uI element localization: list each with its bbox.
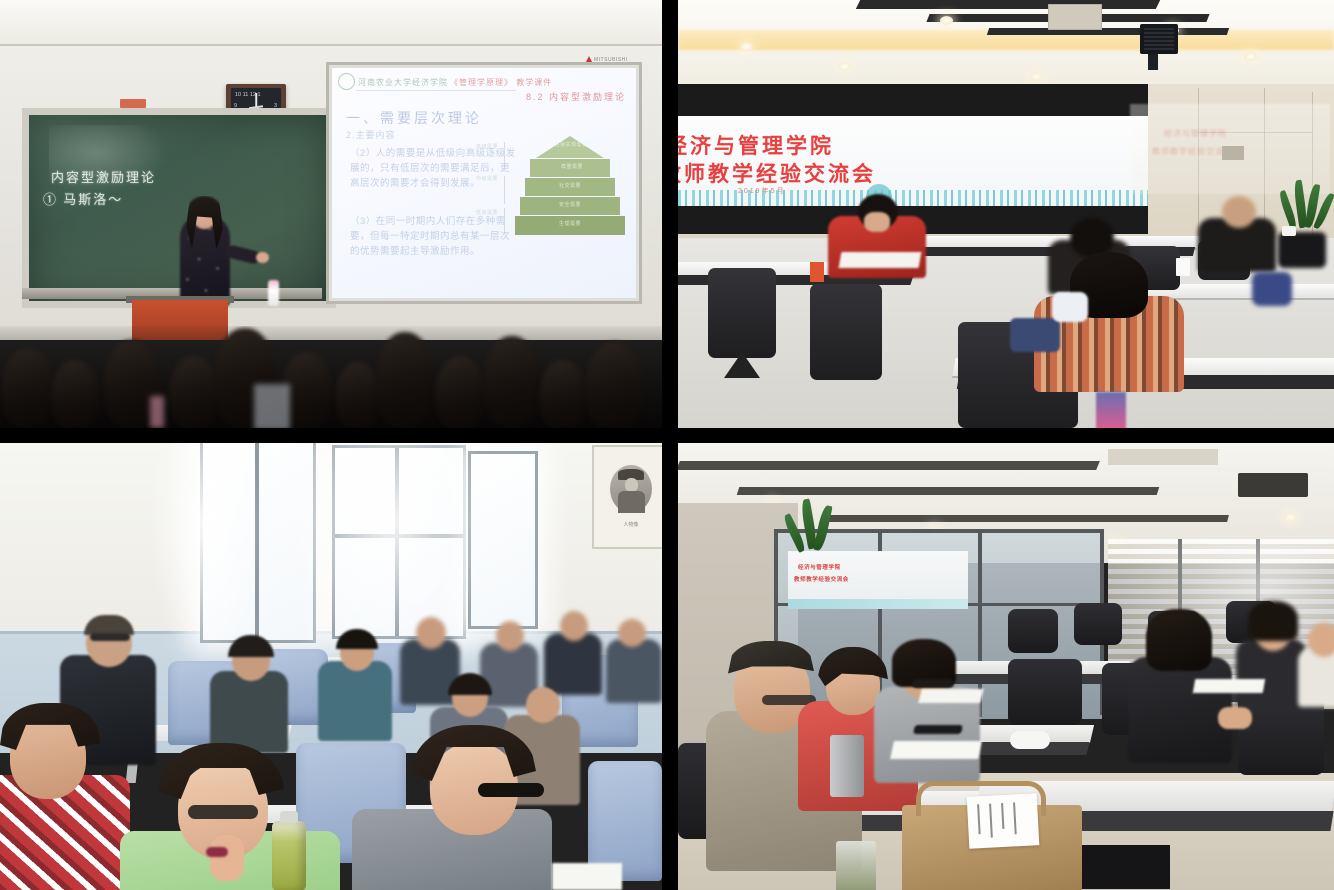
- chalk-eraser: [120, 99, 146, 108]
- tote-bag: [1096, 392, 1126, 428]
- pink-bottle: [150, 396, 164, 428]
- notebook: [839, 252, 922, 268]
- backpack: [1278, 232, 1326, 268]
- pyramid-label-2: 安全需要: [542, 202, 598, 208]
- attendee-hair: [84, 615, 134, 635]
- portrait-image: [610, 465, 652, 513]
- screen-surround-top: [678, 84, 1148, 120]
- attendee-body: [1128, 657, 1232, 763]
- photo-panel-bottom-right: 经济与管理学院 教师教学经验交流会: [678, 443, 1334, 890]
- paper-text-line: [1013, 802, 1017, 834]
- paper-text-line: [1001, 803, 1004, 829]
- downlight: [1284, 513, 1297, 522]
- slide-paragraph-2: （2）人的需要是从低级向高级逐级发展的，只有低层次的需要满足后，更高层次的需要才…: [350, 146, 518, 191]
- ceiling-beam: [737, 487, 1160, 495]
- screen-title-line-1: 经济与管理学院: [678, 130, 834, 160]
- student-head: [540, 360, 586, 428]
- ceiling-beam: [678, 461, 1100, 470]
- notebook: [890, 741, 982, 759]
- paper-cup: [1176, 258, 1190, 276]
- lecture-hall-scene: 10 11 12 1 9 3 8 7 6 5 4 内容型激励理论 ① 马斯洛～ …: [0, 0, 662, 428]
- downlight: [838, 62, 851, 71]
- chair-tag: [810, 262, 824, 282]
- student-head: [2, 348, 54, 428]
- pyramid-side-label-high: 高级需要: [476, 144, 502, 150]
- downlight: [740, 42, 753, 51]
- slide-divider: [356, 90, 516, 91]
- ceiling: [0, 0, 662, 46]
- attendee-head: [618, 619, 646, 647]
- portrait-face: [625, 478, 638, 492]
- classroom-windows-scene: 人物像: [0, 443, 662, 890]
- wall-outlet: [1222, 146, 1244, 160]
- chalkboard: 内容型激励理论 ① 马斯洛～: [22, 108, 336, 308]
- student-head: [336, 362, 380, 428]
- student-head: [376, 332, 434, 428]
- folded-jacket: [1010, 318, 1060, 352]
- slide-subheading: 2.主要内容: [346, 128, 396, 141]
- screen-date: 2019年5月: [738, 186, 785, 196]
- seminar-room-scene: 经济与管理学院 教师教学经验交流会: [678, 443, 1334, 890]
- student-head: [52, 360, 98, 428]
- projected-slide: 河南农业大学经济学院 《管理学原理》 教学课件 8.2 内容型激励理论 一、需要…: [332, 68, 636, 298]
- student-head: [170, 356, 218, 428]
- attendee-body: [544, 633, 602, 695]
- chair-base: [1074, 845, 1170, 889]
- screen-title-line-2: 教师教学经验交流会: [678, 158, 876, 188]
- eyeglasses: [90, 633, 130, 641]
- notebook: [1193, 679, 1265, 693]
- maslow-pyramid: 自我实现需要 尊重需要 社交需要 安全需要 生理需要 高级需要 中级需要 低级需…: [522, 136, 618, 240]
- downlight: [766, 501, 779, 510]
- bottle-cap: [280, 811, 298, 823]
- projector-brand-label: MITSUBISHI: [594, 57, 628, 63]
- tea-glass: [836, 841, 876, 890]
- distant-screen-line-2: 教师教学经验交流会: [794, 575, 849, 583]
- ceiling-vent: [1048, 4, 1102, 30]
- attendee-body: [606, 639, 662, 703]
- mesh-chair: [1008, 659, 1082, 725]
- mesh-chair: [1008, 609, 1058, 653]
- office-chair: [708, 268, 776, 358]
- portrait-caption: 人物像: [594, 521, 662, 528]
- white-sneaker: [1010, 731, 1050, 749]
- paper-text-line: [989, 804, 993, 838]
- chalkboard-line-2: ① 马斯洛～: [43, 189, 123, 208]
- student-shirt: [254, 384, 290, 428]
- wall-speaker: [1238, 473, 1308, 497]
- window-glare: [150, 443, 260, 663]
- bracelet: [206, 847, 228, 857]
- student-head: [484, 336, 540, 428]
- attendee-head: [416, 617, 446, 649]
- pyramid-label-1: 生理需要: [538, 221, 602, 227]
- attendee-body: [210, 671, 288, 753]
- notebook: [552, 863, 622, 890]
- pyramid-label-3: 社交需要: [546, 183, 594, 189]
- paper-sheet: [967, 793, 1040, 849]
- clock-numeral-10: 10 11 12 1: [235, 92, 261, 98]
- audience-silhouettes: [0, 326, 662, 428]
- attendee-hair: [1248, 601, 1298, 641]
- plastic-bag: [1052, 292, 1088, 322]
- conference-room-scene: 经济与管理学院 教师教学经验交流会 2019年5月 经济与管理学院 教师教学经验…: [678, 0, 1334, 428]
- attendee-hand: [1218, 707, 1252, 729]
- university-logo-icon: [338, 73, 355, 90]
- window-glare: [292, 443, 492, 653]
- slide-paragraph-3: （3）在同一时期内人们存在多种需要，但每一特定时期内总有某一层次的优势需要起主导…: [350, 214, 518, 259]
- attendee-body: [318, 661, 392, 741]
- slide-university: 河南农业大学经济学院: [358, 77, 448, 88]
- bag: [1252, 272, 1292, 306]
- attendee-head: [560, 611, 588, 641]
- pyramid-side-label-mid: 中级需要: [476, 176, 502, 182]
- student-head: [586, 342, 644, 428]
- projection-screen: 经济与管理学院 教师教学经验交流会 2019年5月: [678, 116, 1148, 206]
- smartphone: [913, 725, 963, 734]
- paper-text-line: [977, 804, 981, 834]
- pyramid-brace-high: [504, 142, 505, 168]
- slide-heading: 一、需要层次理论: [346, 108, 482, 128]
- plant-leaf: [813, 504, 832, 551]
- pyramid-brace-low: [504, 208, 505, 234]
- distant-screen-skyline: [788, 599, 968, 609]
- attendee-face: [864, 212, 890, 232]
- downlight: [940, 16, 953, 25]
- wall-portrait-frame: 人物像: [592, 445, 662, 549]
- instructor-hand: [256, 252, 269, 263]
- paper-cup: [1282, 226, 1296, 236]
- mesh-chair: [1074, 603, 1122, 645]
- mesh-chair: [1238, 695, 1324, 775]
- speaker-grille: [1144, 28, 1174, 50]
- reflection-line-2: 教师教学经验交流会: [1152, 146, 1233, 157]
- potted-plant: [788, 499, 844, 569]
- attendee-head: [496, 621, 524, 651]
- slide-course: 《管理学原理》 教学课件: [450, 77, 628, 88]
- pyramid-label-4: 尊重需要: [550, 164, 594, 170]
- office-chair: [810, 284, 882, 380]
- ceiling-panel: [1108, 449, 1218, 465]
- green-water-bottle: [272, 821, 306, 890]
- downlight: [1030, 72, 1043, 81]
- attendee-head: [526, 687, 560, 723]
- ceiling-beam: [856, 0, 1160, 9]
- photo-collage: 10 11 12 1 9 3 8 7 6 5 4 内容型激励理论 ① 马斯洛～ …: [0, 0, 1334, 890]
- water-bottle: [268, 280, 279, 306]
- notebook: [918, 689, 983, 703]
- attendee-head: [1308, 623, 1334, 657]
- attendee-hand: [210, 835, 244, 881]
- wall-speaker: [1140, 24, 1178, 54]
- ceiling-beam: [987, 28, 1229, 35]
- mitsubishi-logo-icon: [586, 56, 592, 62]
- thermos-cup: [830, 735, 864, 797]
- eyeglasses: [478, 783, 544, 797]
- attendee-hair: [1146, 609, 1212, 671]
- pyramid-label-5: 自我实现需要: [554, 142, 588, 148]
- attendee-head: [1222, 196, 1256, 228]
- portrait-torso: [618, 491, 645, 513]
- pyramid-brace-mid: [504, 176, 505, 204]
- projection-screen: 河南农业大学经济学院 《管理学原理》 教学课件 8.2 内容型激励理论 一、需要…: [326, 62, 642, 304]
- ceiling-edge: [0, 44, 662, 46]
- student-head: [436, 356, 484, 428]
- eyeglasses: [912, 679, 954, 688]
- reflection-line-1: 经济与管理学院: [1164, 128, 1227, 139]
- downlight: [1244, 52, 1257, 61]
- slide-chapter: 8.2 内容型激励理论: [526, 90, 626, 103]
- photo-panel-bottom-left: 人物像: [0, 443, 662, 890]
- photo-panel-top-left: 10 11 12 1 9 3 8 7 6 5 4 内容型激励理论 ① 马斯洛～ …: [0, 0, 662, 428]
- photo-panel-top-right: 经济与管理学院 教师教学经验交流会 2019年5月 经济与管理学院 教师教学经验…: [678, 0, 1334, 428]
- pyramid-side-label-low: 低级需要: [476, 210, 502, 216]
- eyeglasses: [188, 805, 258, 819]
- speaker-mount: [1148, 54, 1158, 70]
- chalkboard-line-1: 内容型激励理论: [51, 167, 156, 186]
- ceiling-beam: [827, 515, 1229, 522]
